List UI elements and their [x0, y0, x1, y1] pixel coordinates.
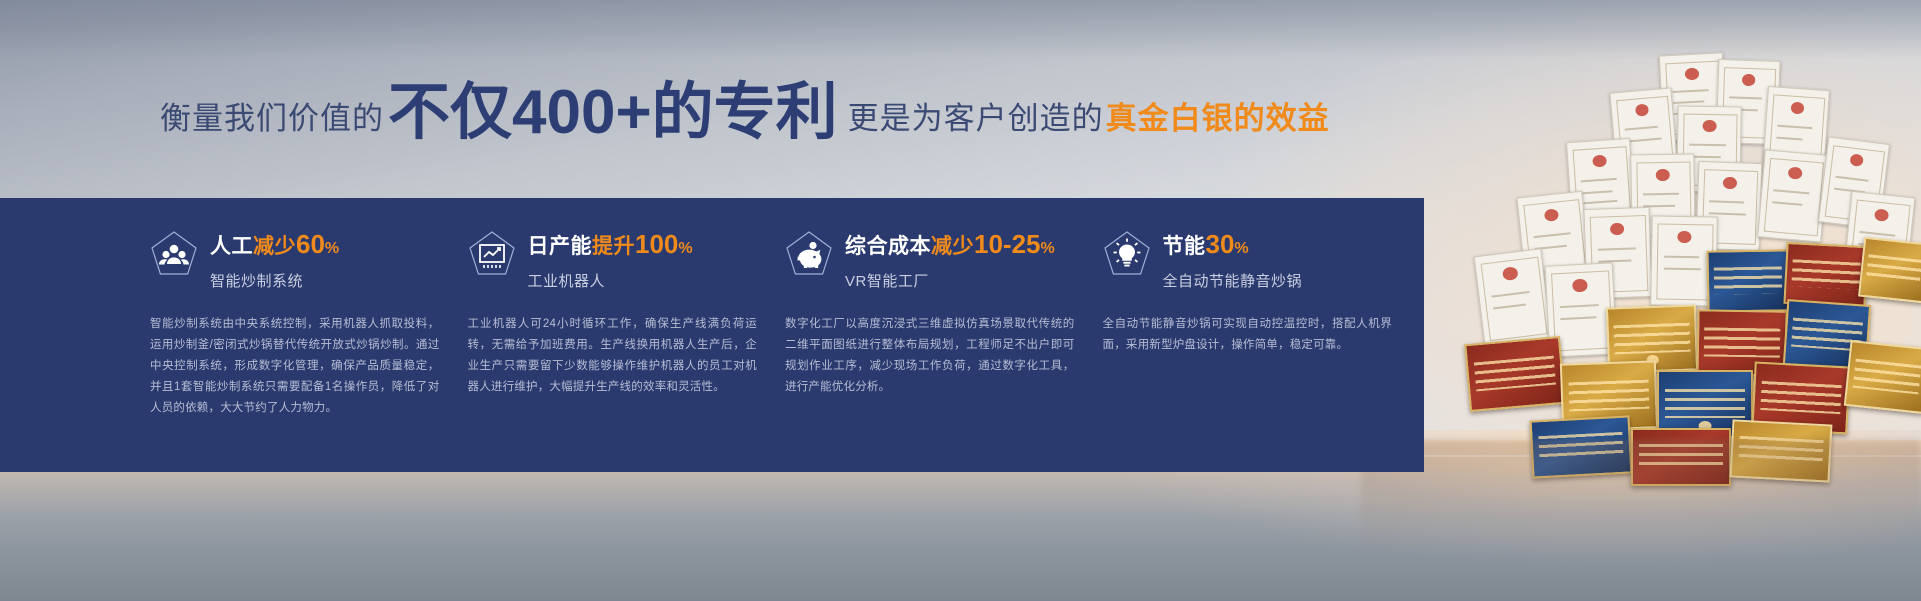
lightbulb-icon [1103, 230, 1151, 282]
award-plaque [1783, 242, 1868, 308]
title-number: 10-25 [974, 229, 1041, 259]
title-prefix: 节能 [1163, 235, 1206, 258]
headline-lead: 衡量我们价值的 [160, 93, 384, 138]
headline-emphasis: 不仅400+的专利 [388, 82, 838, 144]
feature-card-header: 综合成本减少10-25% VR智能工厂 [785, 230, 1081, 292]
chart-monitor-icon [468, 230, 516, 282]
feature-card-subtitle: 工业机器人 [528, 270, 694, 291]
feature-card-title: 节能30% [1163, 232, 1303, 261]
title-prefix: 日产能 [528, 235, 593, 258]
feature-card-title: 日产能提升100% [528, 232, 694, 261]
headline-mid: 更是为客户创造的 [848, 93, 1104, 138]
feature-card-body: 工业机器人可24小时循环工作，确保生产线满负荷运转，无需给予加班费用。生产线换用… [468, 314, 764, 398]
banner-stage: 衡量我们价值的 不仅400+的专利 更是为客户创造的 真金白银的效益 [0, 0, 1921, 601]
feature-card-title: 人工减少60% [210, 232, 340, 261]
certificate-reflection [1361, 440, 1921, 550]
feature-card-body: 智能炒制系统由中央系统控制，采用机器人抓取投料，运用炒制釜/密闭式炒锅替代传统开… [150, 314, 446, 419]
feature-card-labor: 人工减少60% 智能炒制系统 智能炒制系统由中央系统控制，采用机器人抓取投料，运… [150, 198, 468, 472]
feature-card-subtitle: 智能炒制系统 [210, 270, 340, 291]
feature-card-header: 人工减少60% 智能炒制系统 [150, 230, 446, 292]
page-title: 衡量我们价值的 不仅400+的专利 更是为客户创造的 真金白银的效益 [160, 78, 1330, 146]
feature-card-body: 全自动节能静音炒锅可实现自动控温控时，搭配人机界面，采用新型炉盘设计，操作简单，… [1103, 314, 1399, 356]
feature-card-titles: 人工减少60% 智能炒制系统 [210, 230, 340, 291]
features-panel: 人工减少60% 智能炒制系统 智能炒制系统由中央系统控制，采用机器人抓取投料，运… [0, 198, 1424, 472]
feature-card-body: 数字化工厂以高度沉浸式三维虚拟仿真场景取代传统的二维平面图纸进行整体布局规划，工… [785, 314, 1081, 398]
feature-card-capacity: 日产能提升100% 工业机器人 工业机器人可24小时循环工作，确保生产线满负荷运… [468, 198, 786, 472]
award-plaque [1844, 340, 1921, 414]
people-icon [150, 230, 198, 282]
headline-accent: 真金白银的效益 [1106, 93, 1330, 138]
title-percent: % [1234, 240, 1249, 257]
title-accent: 减少 [253, 235, 296, 258]
feature-card-header: 节能30% 全自动节能静音炒锅 [1103, 230, 1399, 292]
feature-card-cost: 综合成本减少10-25% VR智能工厂 数字化工厂以高度沉浸式三维虚拟仿真场景取… [785, 198, 1103, 472]
certificate-paper [1474, 248, 1553, 348]
certificate-paper [1757, 149, 1828, 242]
feature-card-title: 综合成本减少10-25% [845, 232, 1055, 261]
feature-card-header: 日产能提升100% 工业机器人 [468, 230, 764, 292]
title-prefix: 综合成本 [845, 235, 931, 258]
award-plaque [1858, 237, 1921, 304]
features-row: 人工减少60% 智能炒制系统 智能炒制系统由中央系统控制，采用机器人抓取投料，运… [150, 198, 1420, 472]
title-number: 100 [635, 229, 678, 259]
feature-card-titles: 日产能提升100% 工业机器人 [528, 230, 694, 291]
award-plaque [1706, 249, 1789, 312]
award-plaque [1464, 336, 1566, 412]
title-percent: % [678, 240, 693, 257]
piggy-bank-icon [785, 230, 833, 282]
title-accent: 提升 [592, 235, 635, 258]
title-number: 60 [296, 229, 325, 259]
title-number: 30 [1206, 229, 1235, 259]
feature-card-energy: 节能30% 全自动节能静音炒锅 全自动节能静音炒锅可实现自动控温控时，搭配人机界… [1103, 198, 1421, 472]
feature-card-titles: 综合成本减少10-25% VR智能工厂 [845, 230, 1055, 291]
title-prefix: 人工 [210, 235, 253, 258]
feature-card-titles: 节能30% 全自动节能静音炒锅 [1163, 230, 1303, 291]
title-percent: % [1041, 240, 1056, 257]
feature-card-subtitle: 全自动节能静音炒锅 [1163, 270, 1303, 291]
feature-card-subtitle: VR智能工厂 [845, 270, 1055, 291]
title-accent: 减少 [931, 235, 974, 258]
title-percent: % [325, 240, 340, 257]
